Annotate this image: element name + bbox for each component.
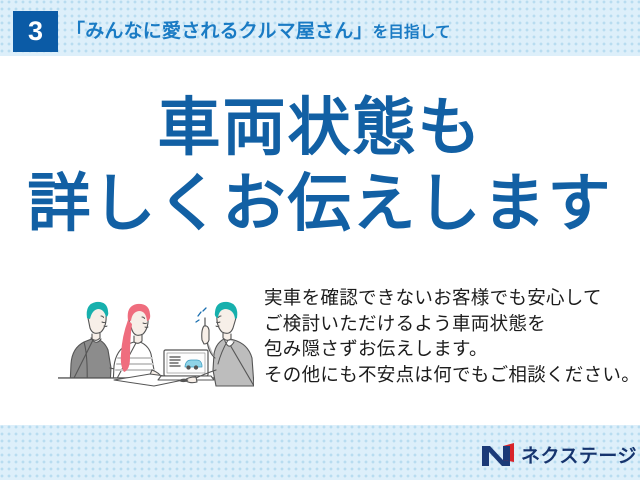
laptop [158,350,214,380]
nextage-logo-text: ネクステージ [521,441,637,468]
promo-banner: 3 「みんなに愛されるクルマ屋さん」を目指して 車両状態も 詳しくお伝えします [0,0,640,480]
consultation-illustration [58,278,254,390]
body-copy-line-1: 実車を確認できないお客様でも安心して [264,285,614,311]
headline-line-1: 車両状態も [0,96,640,160]
header-title-suffix: を目指して [373,24,451,41]
header-title-main: 「みんなに愛されるクルマ屋さん」 [66,21,373,42]
body-copy: 実車を確認できないお客様でも安心して ご検討いただけるよう車両状態を 包み隠さず… [264,285,614,387]
headline: 車両状態も 詳しくお伝えします [0,96,640,237]
step-number-badge: 3 [13,11,58,52]
body-copy-line-3: 包み隠さずお伝えします。 [264,336,614,362]
nextage-logo: ネクステージ [481,441,637,468]
headline-line-2: 詳しくお伝えします [0,172,640,236]
body-copy-line-4: その他にも不安点は何でもご相談ください。 [264,362,614,388]
consultation-scene-svg [58,278,254,390]
nextage-n-logo-icon [481,443,515,467]
body-copy-line-2: ご検討いただけるよう車両状態を [264,311,614,337]
header-title: 「みんなに愛されるクルマ屋さん」を目指して [66,16,451,43]
customer-woman [113,304,162,386]
